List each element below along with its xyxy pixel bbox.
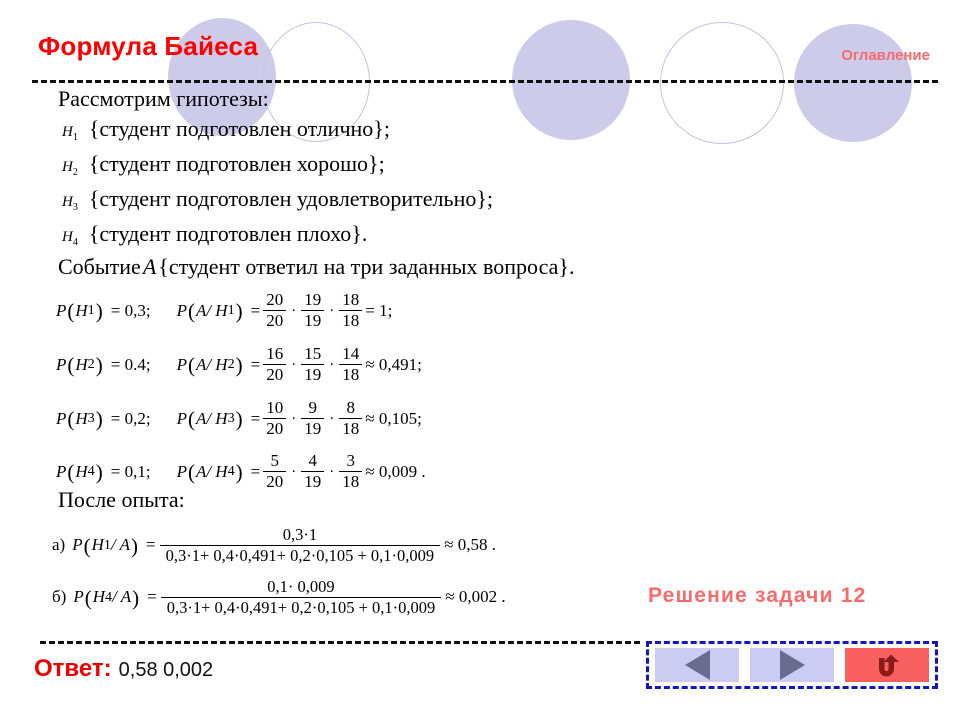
posterior-row-a: а)P(H1/ A)= 0,3·1 0,3·1+ 0,4·0,491+ 0,2·…	[52, 526, 496, 565]
bayes-fraction-a: 0,3·1 0,3·1+ 0,4·0,491+ 0,2·0,105 + 0,1·…	[160, 526, 441, 565]
fraction-4-3: 318	[339, 452, 362, 492]
fraction-2-1: 1620	[263, 345, 286, 385]
fraction-denominator: 20	[263, 420, 286, 438]
fraction-numerator: 8	[344, 399, 359, 417]
cond-arg-3: A/ H	[196, 409, 228, 429]
posterior-label-b: P	[73, 587, 83, 607]
multiplication-dot: ·	[327, 357, 336, 374]
probability-row-1: P(H1)= 0,3; P(A/ H1)= 2020 · 1919 · 1818…	[56, 291, 392, 331]
hypothesis-text-3: {студент подготовлен удовлетворительно};	[89, 186, 493, 212]
answer-value: 0,58 0,002	[119, 659, 214, 681]
posterior-item-a: а)	[52, 535, 65, 555]
bayes-result-a: ≈ 0,58 .	[444, 535, 496, 555]
multiplication-dot: ·	[289, 411, 298, 428]
event-prefix: Событие	[58, 254, 141, 279]
bayes-denominator-a: 0,3·1+ 0,4·0,491+ 0,2·0,105 + 0,1·0,009	[160, 547, 441, 565]
fraction-numerator: 9	[306, 399, 321, 417]
posterior-given-b: / A	[112, 587, 131, 607]
hypothesis-row-2: H2 {студент подготовлен хорошо};	[62, 151, 385, 178]
fraction-denominator: 19	[301, 420, 324, 438]
prior-value-4: = 0,1;	[111, 462, 151, 482]
multiplication-dot: ·	[289, 303, 298, 320]
hypothesis-index-4: 4	[73, 237, 78, 248]
fraction-numerator: 20	[263, 291, 286, 309]
fraction-2-3: 1418	[339, 345, 362, 385]
prior-value-3: = 0,2;	[111, 409, 151, 429]
hypothesis-symbol-4: H4	[62, 229, 78, 248]
cond-index-2: 2	[228, 356, 235, 373]
navigation-button-group	[646, 641, 938, 689]
answer-label: Ответ:	[34, 655, 112, 682]
page-title: Формула Байеса	[38, 31, 258, 62]
cond-result-1: = 1;	[365, 301, 392, 321]
hypothesis-row-3: H3 {студент подготовлен удовлетворительн…	[62, 186, 493, 213]
multiplication-dot: ·	[289, 464, 298, 481]
next-slide-button[interactable]	[750, 648, 834, 682]
decorative-circle-outlined-2	[660, 22, 784, 144]
fraction-3-3: 818	[339, 399, 362, 439]
multiplication-dot: ·	[327, 411, 336, 428]
cond-result-3: ≈ 0,105;	[365, 409, 422, 429]
fraction-1-2: 1919	[301, 291, 324, 331]
hypothesis-index-2: 2	[73, 167, 78, 178]
prior-arg-1: H	[75, 301, 87, 321]
forward-triangle-icon	[780, 650, 805, 680]
fraction-denominator: 18	[339, 420, 362, 438]
prior-index-2: 2	[88, 356, 95, 373]
fraction-numerator: 10	[263, 399, 286, 417]
decorative-circle-filled-3	[794, 24, 912, 142]
hypothesis-symbol-2: H2	[62, 159, 78, 178]
cond-index-3: 3	[228, 410, 235, 427]
posterior-given-a: / A	[111, 535, 130, 555]
bayes-denominator-b: 0,3·1+ 0,4·0,491+ 0,2·0,105 + 0,1·0,009	[161, 599, 442, 617]
bayes-numerator-a: 0,3·1	[277, 526, 323, 544]
header-divider	[32, 80, 938, 83]
hypothesis-symbol-1: H1	[62, 124, 78, 143]
fraction-denominator: 20	[263, 312, 286, 330]
back-triangle-icon	[685, 650, 710, 680]
lead-text: Рассмотрим гипотезы:	[58, 86, 269, 112]
event-definition: СобытиеA{студент ответил на три заданных…	[58, 254, 574, 280]
probability-row-2: P(H2)= 0.4; P(A/ H2)= 1620 · 1519 · 1418…	[56, 345, 422, 385]
cond-result-2: ≈ 0,491;	[365, 355, 422, 375]
posterior-arg-a: H	[92, 535, 104, 555]
fraction-numerator: 3	[344, 452, 359, 470]
event-text: {студент ответил на три заданных вопроса…	[158, 254, 574, 279]
prior-arg-2: H	[75, 355, 87, 375]
fraction-denominator: 18	[339, 366, 362, 384]
cond-index-4: 4	[228, 463, 235, 480]
posterior-row-b: б)P(H4/ A)= 0,1· 0,009 0,3·1+ 0,4·0,491+…	[52, 578, 506, 617]
return-arrow-icon	[871, 651, 903, 679]
fraction-denominator: 19	[301, 312, 324, 330]
slide-root: Формула Байеса Оглавление Рассмотрим гип…	[0, 0, 960, 720]
cond-result-4: ≈ 0,009 .	[365, 462, 425, 482]
prior-index-4: 4	[88, 463, 95, 480]
cond-arg-4: A/ H	[196, 462, 228, 482]
hypothesis-row-4: H4 {студент подготовлен плохо}.	[62, 221, 367, 248]
prior-index-1: 1	[88, 302, 95, 319]
fraction-numerator: 18	[339, 291, 362, 309]
return-button[interactable]	[845, 648, 929, 682]
fraction-numerator: 14	[339, 345, 362, 363]
multiplication-dot: ·	[327, 464, 336, 481]
posterior-index-b: 4	[105, 589, 112, 606]
fraction-numerator: 16	[263, 345, 286, 363]
probability-row-4: P(H4)= 0,1; P(A/ H4)= 520 · 419 · 318 ≈ …	[56, 452, 426, 492]
posterior-arg-b: H	[93, 587, 105, 607]
answer-block: Ответ:0,58 0,002	[34, 655, 213, 683]
cond-label-1: P	[177, 301, 187, 321]
fraction-denominator: 20	[263, 473, 286, 491]
fraction-1-3: 1818	[339, 291, 362, 331]
multiplication-dot: ·	[327, 303, 336, 320]
hypothesis-symbol-3: H3	[62, 194, 78, 213]
fraction-1-1: 2020	[263, 291, 286, 331]
cond-label-4: P	[177, 462, 187, 482]
posterior-label-a: P	[72, 535, 82, 555]
hypothesis-index-3: 3	[73, 202, 78, 213]
cond-label-2: P	[177, 355, 187, 375]
posterior-item-b: б)	[52, 587, 66, 607]
prior-label-3: P	[56, 409, 66, 429]
bayes-result-b: ≈ 0,002 .	[445, 587, 505, 607]
posterior-heading: После опыта:	[58, 487, 185, 513]
fraction-3-1: 1020	[263, 399, 286, 439]
multiplication-dot: ·	[289, 357, 298, 374]
fraction-denominator: 18	[339, 312, 362, 330]
cond-label-3: P	[177, 409, 187, 429]
prior-label-4: P	[56, 462, 66, 482]
cond-arg-2: A/ H	[196, 355, 228, 375]
bayes-fraction-b: 0,1· 0,009 0,3·1+ 0,4·0,491+ 0,2·0,105 +…	[161, 578, 442, 617]
prior-value-2: = 0.4;	[111, 355, 151, 375]
bayes-numerator-b: 0,1· 0,009	[261, 578, 340, 596]
prior-arg-3: H	[75, 409, 87, 429]
fraction-denominator: 19	[301, 473, 324, 491]
prior-value-1: = 0,3;	[111, 301, 151, 321]
fraction-4-2: 419	[301, 452, 324, 492]
prior-arg-4: H	[75, 462, 87, 482]
cond-arg-1: A/ H	[196, 301, 228, 321]
fraction-numerator: 19	[301, 291, 324, 309]
hypothesis-text-1: {студент подготовлен отлично};	[89, 116, 390, 142]
fraction-numerator: 15	[301, 345, 324, 363]
posterior-index-a: 1	[104, 537, 111, 554]
hypothesis-row-1: H1 {студент подготовлен отлично};	[62, 116, 390, 143]
cond-index-1: 1	[228, 302, 235, 319]
fraction-denominator: 20	[263, 366, 286, 384]
footer-divider	[40, 641, 640, 644]
event-symbol: A	[141, 254, 158, 279]
prior-label-2: P	[56, 355, 66, 375]
hypothesis-text-2: {студент подготовлен хорошо};	[89, 151, 385, 177]
fraction-numerator: 5	[268, 452, 283, 470]
fraction-numerator: 4	[306, 452, 321, 470]
table-of-contents-link[interactable]: Оглавление	[841, 47, 930, 64]
probability-row-3: P(H3)= 0,2; P(A/ H3)= 1020 · 919 · 818 ≈…	[56, 399, 422, 439]
prior-index-3: 3	[88, 410, 95, 427]
prior-label-1: P	[56, 301, 66, 321]
fraction-4-1: 520	[263, 452, 286, 492]
fraction-denominator: 19	[301, 366, 324, 384]
previous-slide-button[interactable]	[655, 648, 739, 682]
fraction-denominator: 18	[339, 473, 362, 491]
hypothesis-text-4: {студент подготовлен плохо}.	[89, 221, 368, 247]
fraction-3-2: 919	[301, 399, 324, 439]
hypothesis-index-1: 1	[73, 132, 78, 143]
solution-link[interactable]: Решение задачи 12	[648, 584, 866, 608]
fraction-2-2: 1519	[301, 345, 324, 385]
